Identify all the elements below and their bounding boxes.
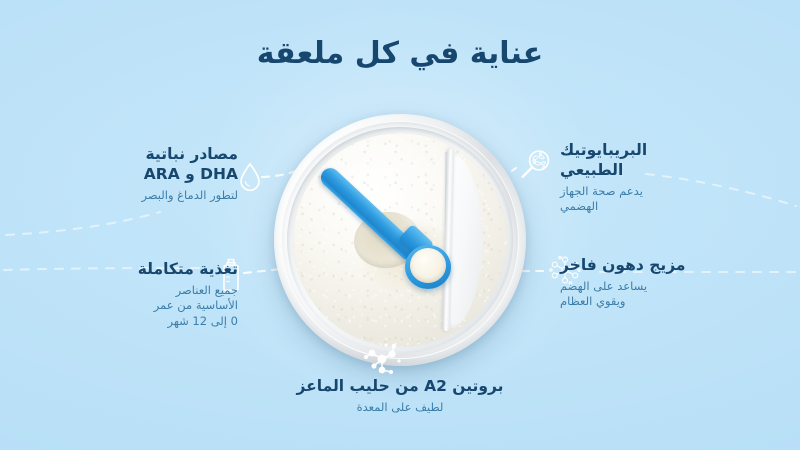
feature-complete-nutrition: تغذية متكاملة جميع العناصر الأساسية من ع… [66, 260, 238, 329]
feature-subtext: جميع العناصر الأساسية من عمر 0 إلى 12 شه… [66, 283, 238, 330]
infographic-canvas: عناية في كل ملعقة [0, 0, 800, 450]
feature-headline: مزيج دهون فاخر [560, 256, 740, 276]
feature-a2-protein-goat-milk: بروتين A2 من حليب الماعز لطيف على المعدة [0, 377, 800, 415]
magnifier-microbes-icon [518, 148, 552, 186]
arc-far-left-upper [6, 212, 160, 235]
atom-molecule-icon [361, 341, 403, 381]
feature-subtext: يدعم صحة الجهاز الهضمي [560, 184, 728, 215]
feature-headline: تغذية متكاملة [66, 260, 238, 280]
water-drop-icon [238, 162, 262, 196]
feature-natural-prebiotic: البريبايوتيك الطبيعي يدعم صحة الجهاز اله… [560, 141, 728, 215]
feature-subtext: يساعد على الهضم ويقوي العظام [560, 279, 740, 310]
tin-cavity [293, 133, 507, 347]
feature-headline: مصادر نباتية DHA و ARA [66, 145, 238, 185]
feature-subtext: لتطور الدماغ والبصر [66, 188, 238, 204]
feature-headline: البريبايوتيك الطبيعي [560, 141, 728, 181]
feature-plant-sources-dha-ara: مصادر نباتية DHA و ARA لتطور الدماغ والب… [66, 145, 238, 203]
page-title: عناية في كل ملعقة [0, 36, 800, 72]
feature-subtext: لطيف على المعدة [0, 400, 800, 416]
feature-premium-fat-blend: مزيج دهون فاخر يساعد على الهضم ويقوي الع… [560, 256, 740, 310]
feature-headline: بروتين A2 من حليب الماعز [0, 377, 800, 397]
product-formula-tin [274, 114, 526, 366]
